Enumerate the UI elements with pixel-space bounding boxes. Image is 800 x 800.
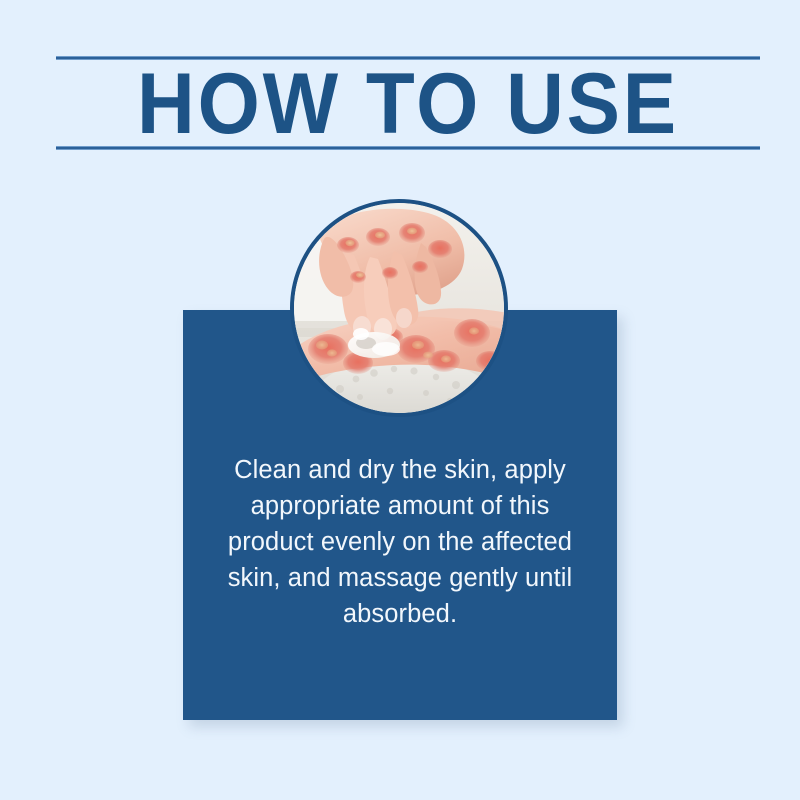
usage-photo [290,199,508,417]
header-rule-bottom [56,146,760,150]
usage-photo-image [294,203,504,413]
page-title: HOW TO USE [81,62,736,146]
instruction-text: Clean and dry the skin, apply appropriat… [213,452,587,632]
header: HOW TO USE [56,56,760,150]
poster-root: HOW TO USE Clean and dry the skin, apply… [0,0,800,800]
